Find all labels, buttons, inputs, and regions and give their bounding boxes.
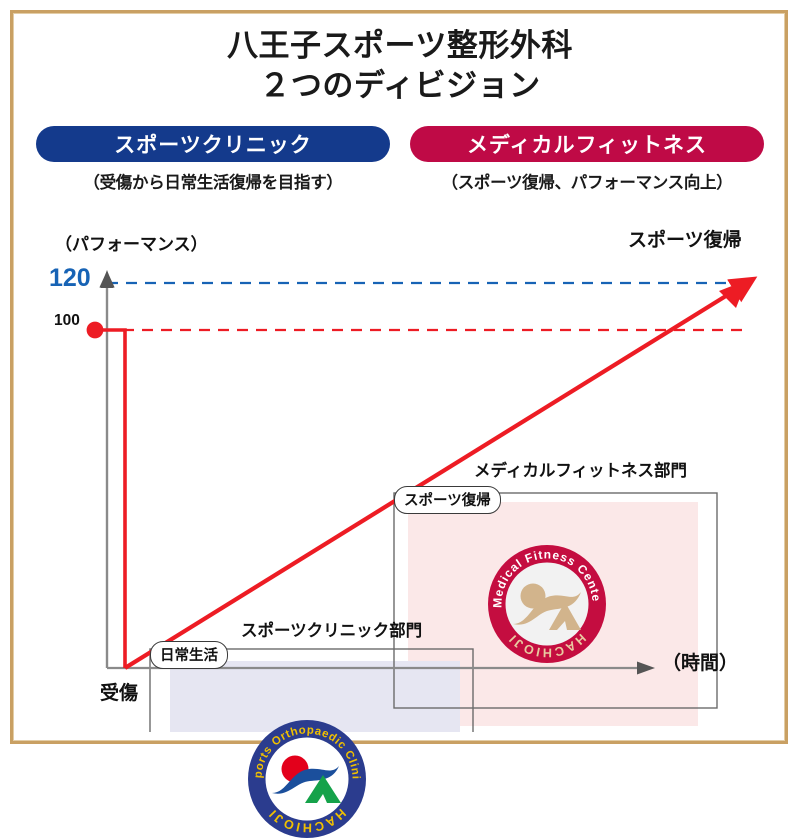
y-tick-120: 120 [49,264,91,293]
label-sport-return-top: スポーツ復帰 [628,225,742,252]
pill-daily-life: 日常生活 [150,641,228,669]
performance-chart: （パフォーマンス） 120 100 スポーツ復帰 （時間） 受傷 日常生活 スポ… [0,212,800,732]
badge-medical-fitness-subtitle: （スポーツ復帰、パフォーマンス向上） [410,169,764,193]
injury-point-marker [87,322,104,339]
page-title: 八王子スポーツ整形外科 ２つのディビジョン [0,26,800,107]
badge-sports-clinic-subtitle: （受傷から日常生活復帰を目指す） [36,169,390,193]
y-axis-label: （パフォーマンス） [55,230,208,255]
page-title-line1: 八王子スポーツ整形外科 [0,26,800,66]
label-sports-clinic-department: スポーツクリニック部門 [241,617,422,641]
y-axis-arrowhead [101,270,114,288]
badge-sports-clinic[interactable]: スポーツクリニック [36,126,390,162]
emblem-medical-fitness-center: Medical Fitness Center HACHIOJI [487,544,607,664]
x-axis-label: （時間） [662,648,738,675]
division-left: スポーツクリニック （受傷から日常生活復帰を目指す） [36,126,390,193]
performance-drop-line [96,330,125,668]
label-medical-fitness-department: メディカルフィットネス部門 [474,457,687,481]
badge-medical-fitness[interactable]: メディカルフィットネス [410,126,764,162]
y-tick-100: 100 [54,312,80,330]
emblem-sports-orthopaedic-clinic: Sports Orthopaedic Clinic HACHIOJI [247,719,367,839]
pill-sport-return: スポーツ復帰 [394,486,501,514]
page-title-line2: ２つのディビジョン [0,66,800,106]
performance-rise-arrowhead [719,280,747,308]
poster-root: 八王子スポーツ整形外科 ２つのディビジョン スポーツクリニック （受傷から日常生… [0,0,800,756]
division-right: メディカルフィットネス （スポーツ復帰、パフォーマンス向上） [410,126,764,193]
x-origin-label: 受傷 [100,678,138,705]
